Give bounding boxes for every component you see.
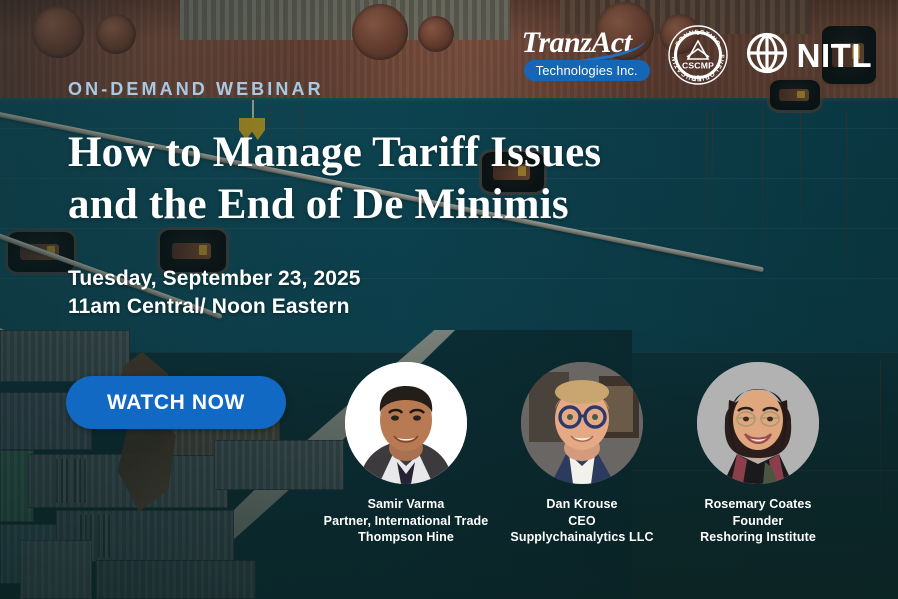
svg-text:CSCMP: CSCMP	[682, 61, 714, 71]
webinar-promo-banner: TranzAct Technologies Inc. CONNECTING	[0, 0, 898, 599]
speaker-company: Thompson Hine	[324, 529, 489, 546]
speaker-title: CEO	[510, 513, 653, 530]
cscmp-seal[interactable]: CONNECTING DEVELOPING EDUCATING CSCMP	[668, 25, 728, 85]
speaker-list: Samir Varma Partner, International Trade…	[318, 362, 898, 562]
event-datetime: Tuesday, September 23, 2025 11am Central…	[68, 265, 361, 321]
sponsor-logo-row: TranzAct Technologies Inc. CONNECTING	[522, 26, 872, 84]
event-time: 11am Central/ Noon Eastern	[68, 293, 361, 321]
speaker-avatar	[697, 362, 819, 484]
speaker-name: Dan Krouse	[510, 496, 653, 513]
watch-now-button[interactable]: WATCH NOW	[66, 376, 286, 429]
speaker-card: Dan Krouse CEO Supplychainalytics LLC	[494, 362, 670, 562]
speaker-info: Rosemary Coates Founder Reshoring Instit…	[700, 496, 816, 546]
speaker-title: Founder	[700, 513, 816, 530]
speaker-info: Samir Varma Partner, International Trade…	[324, 496, 489, 546]
speaker-company: Supplychainalytics LLC	[510, 529, 653, 546]
tranzact-subtitle-bar: Technologies Inc.	[524, 60, 650, 81]
speaker-title: Partner, International Trade	[324, 513, 489, 530]
eyebrow-label: ON-DEMAND WEBINAR	[68, 79, 324, 100]
speaker-name: Rosemary Coates	[700, 496, 816, 513]
nitl-wordmark: NITL	[797, 39, 872, 72]
speaker-avatar	[521, 362, 643, 484]
tranzact-logo[interactable]: TranzAct Technologies Inc.	[522, 28, 650, 82]
banner-content: TranzAct Technologies Inc. CONNECTING	[0, 0, 898, 599]
speaker-company: Reshoring Institute	[700, 529, 816, 546]
speaker-info: Dan Krouse CEO Supplychainalytics LLC	[510, 496, 653, 546]
speaker-card: Rosemary Coates Founder Reshoring Instit…	[670, 362, 846, 562]
nitl-logo[interactable]: NITL	[746, 32, 872, 79]
headline-line-1: How to Manage Tariff Issues	[68, 127, 788, 179]
speaker-card: Samir Varma Partner, International Trade…	[318, 362, 494, 562]
headline-line-2: and the End of De Minimis	[68, 179, 788, 231]
page-title: How to Manage Tariff Issues and the End …	[68, 127, 788, 231]
tranzact-subtitle: Technologies Inc.	[536, 63, 638, 78]
event-date: Tuesday, September 23, 2025	[68, 265, 361, 293]
speaker-name: Samir Varma	[324, 496, 489, 513]
nitl-globe-icon	[746, 32, 788, 79]
speaker-avatar	[345, 362, 467, 484]
